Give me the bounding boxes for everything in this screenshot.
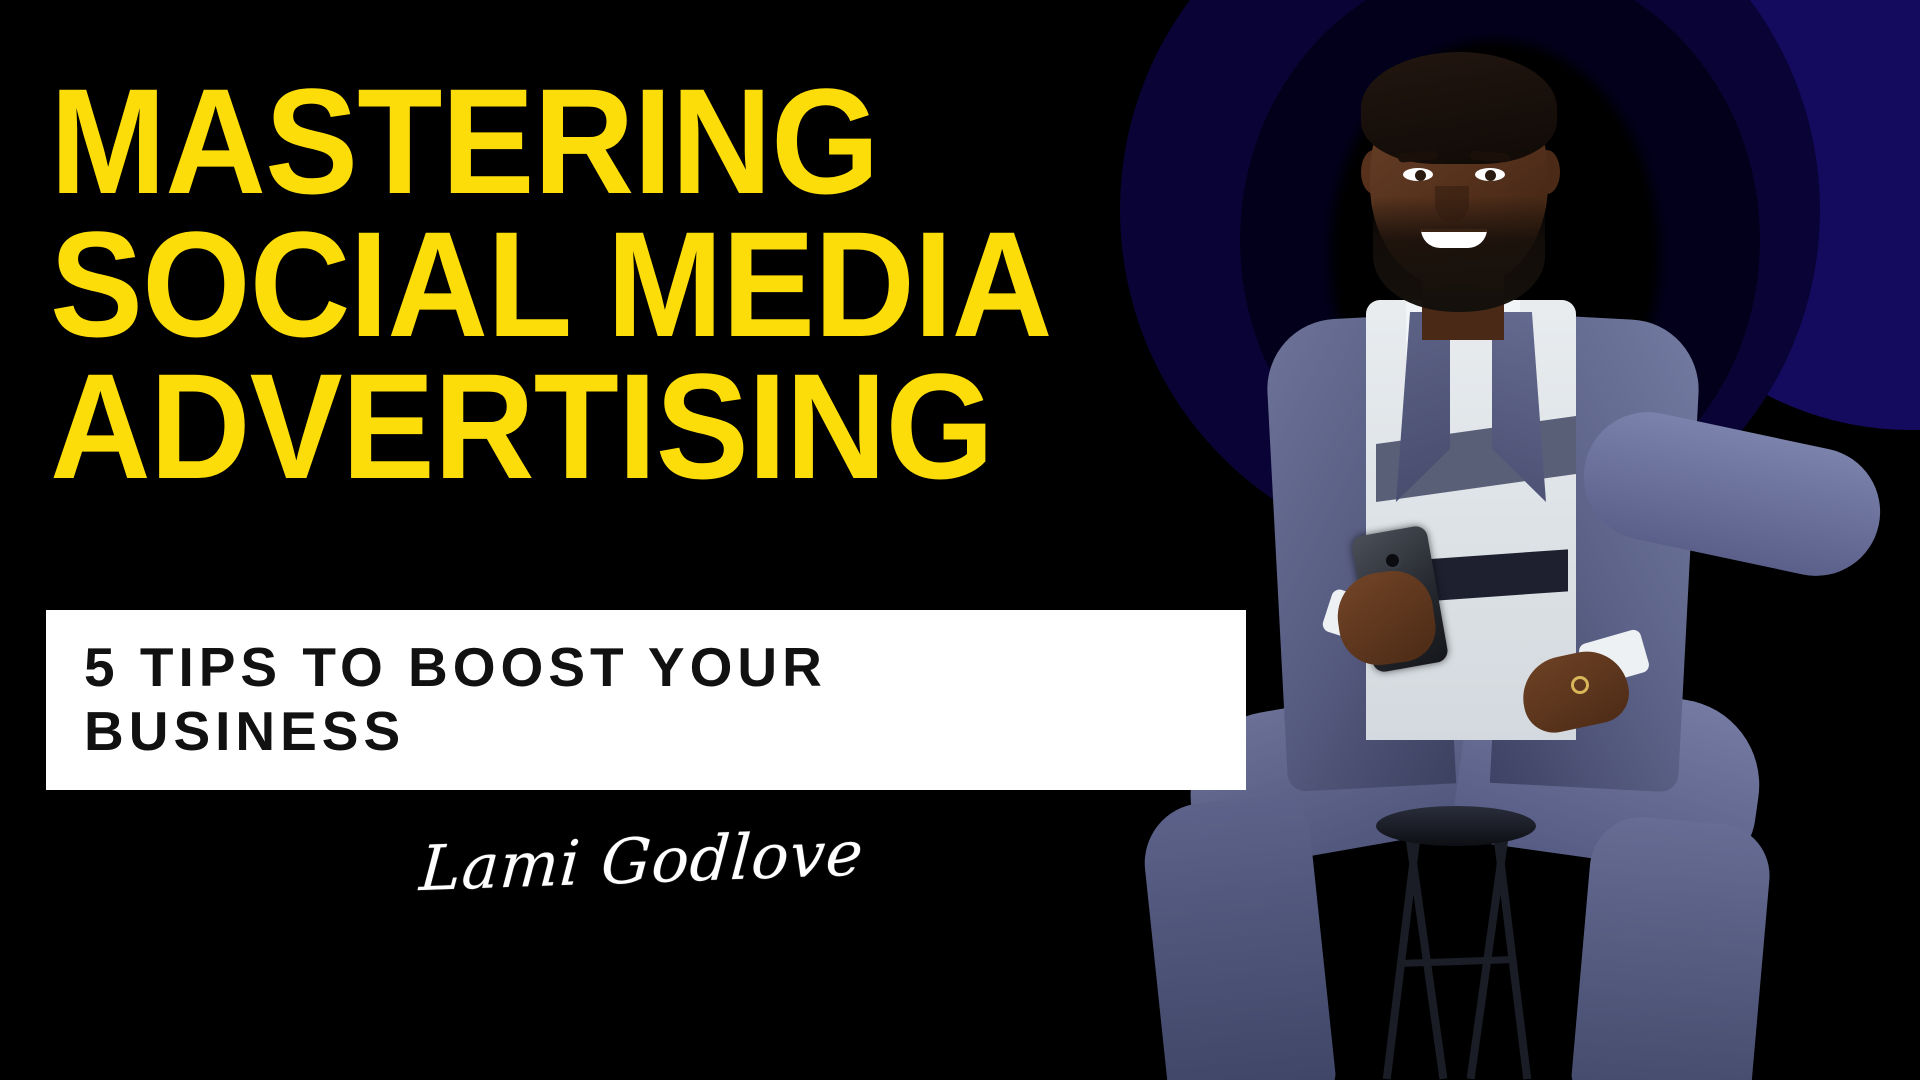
headline-line-2: SOCIAL MEDIA — [50, 213, 1222, 356]
presenter-nose — [1435, 186, 1469, 222]
page-title: MASTERING SOCIAL MEDIA ADVERTISING — [50, 70, 1310, 498]
presenter-pupil-left — [1415, 170, 1426, 181]
presenter-right-shin — [1570, 813, 1774, 1080]
subtitle-banner: 5 TIPS TO BOOST YOUR BUSINESS — [46, 610, 1246, 790]
presenter-hair — [1361, 52, 1557, 164]
presenter-left-shin — [1139, 792, 1337, 1080]
stool-seat — [1376, 806, 1536, 846]
wedding-ring-icon — [1571, 676, 1589, 694]
headline-line-1: MASTERING — [50, 70, 1222, 213]
subtitle-line-1: 5 TIPS TO BOOST YOUR — [84, 636, 1246, 700]
stool-rail — [1402, 956, 1512, 967]
subtitle-line-2: BUSINESS — [84, 700, 1246, 764]
stool-leg — [1405, 831, 1448, 1080]
presenter-pupil-right — [1485, 170, 1496, 181]
headline-line-3: ADVERTISING — [50, 355, 1222, 498]
signature-name: Lami Godlove — [418, 822, 866, 900]
presenter-mouth — [1421, 229, 1487, 248]
stool-leg — [1467, 831, 1510, 1080]
thumbnail-canvas: MASTERING SOCIAL MEDIA ADVERTISING 5 TIP… — [0, 0, 1920, 1080]
